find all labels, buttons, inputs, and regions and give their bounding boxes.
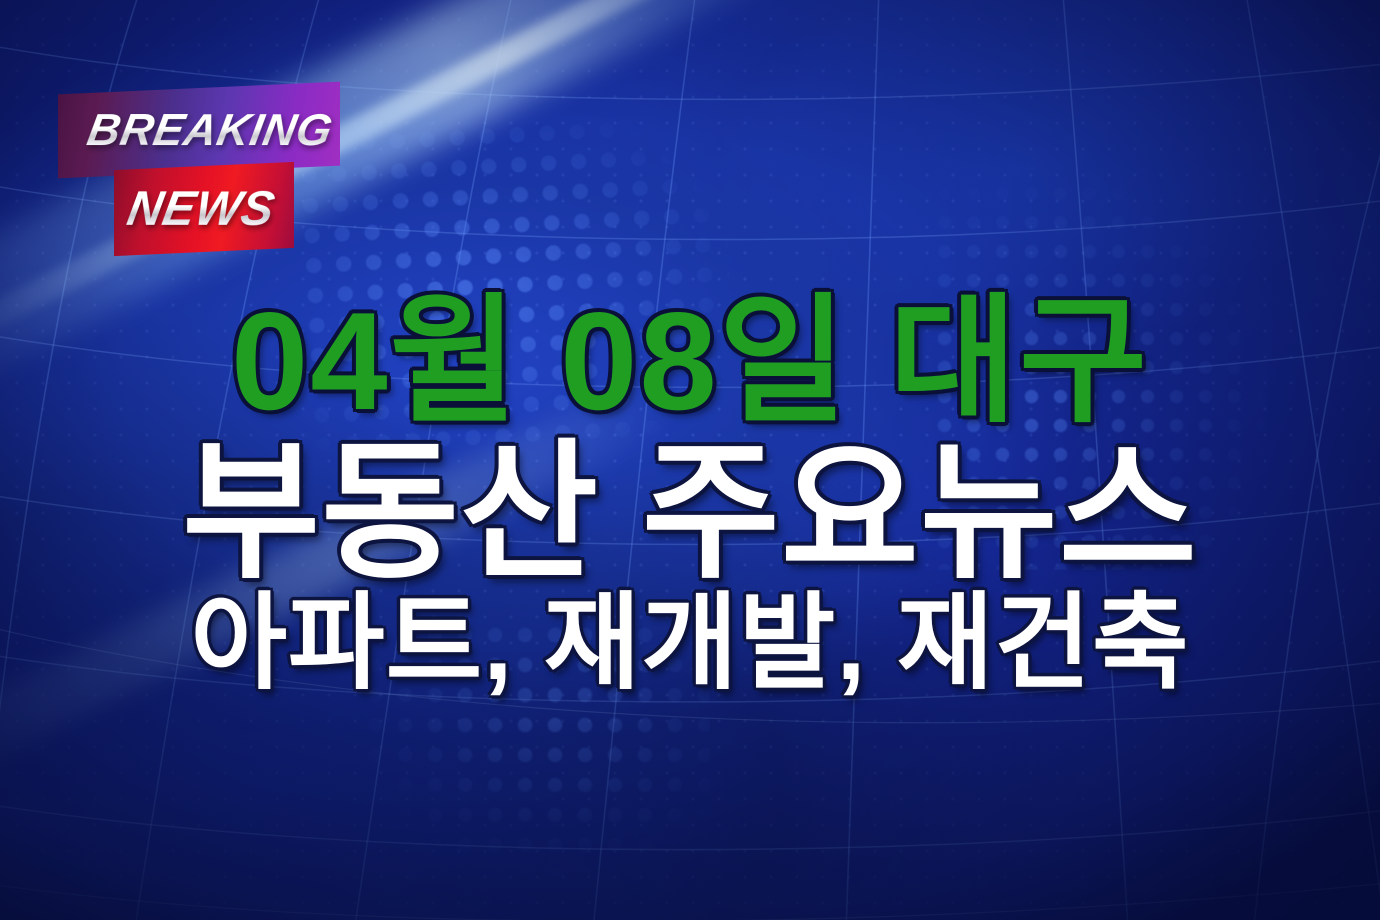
headline-block: 04월 08일 대구 부동산 주요뉴스 아파트, 재개발, 재건축 (0, 292, 1380, 696)
breaking-news-badge: BREAKING NEWS (52, 84, 352, 264)
headline-line-date-region: 04월 08일 대구 (0, 292, 1380, 431)
breaking-bar: BREAKING (58, 82, 340, 179)
news-label: NEWS (123, 182, 285, 237)
headline-line-subtopics: 아파트, 재개발, 재건축 (0, 591, 1380, 696)
breaking-label: BREAKING (53, 104, 336, 156)
news-bar: NEWS (114, 162, 294, 256)
headline-line-topic: 부동산 주요뉴스 (0, 437, 1380, 587)
news-thumbnail-canvas: BREAKING NEWS 04월 08일 대구 부동산 주요뉴스 아파트, 재… (0, 0, 1380, 920)
